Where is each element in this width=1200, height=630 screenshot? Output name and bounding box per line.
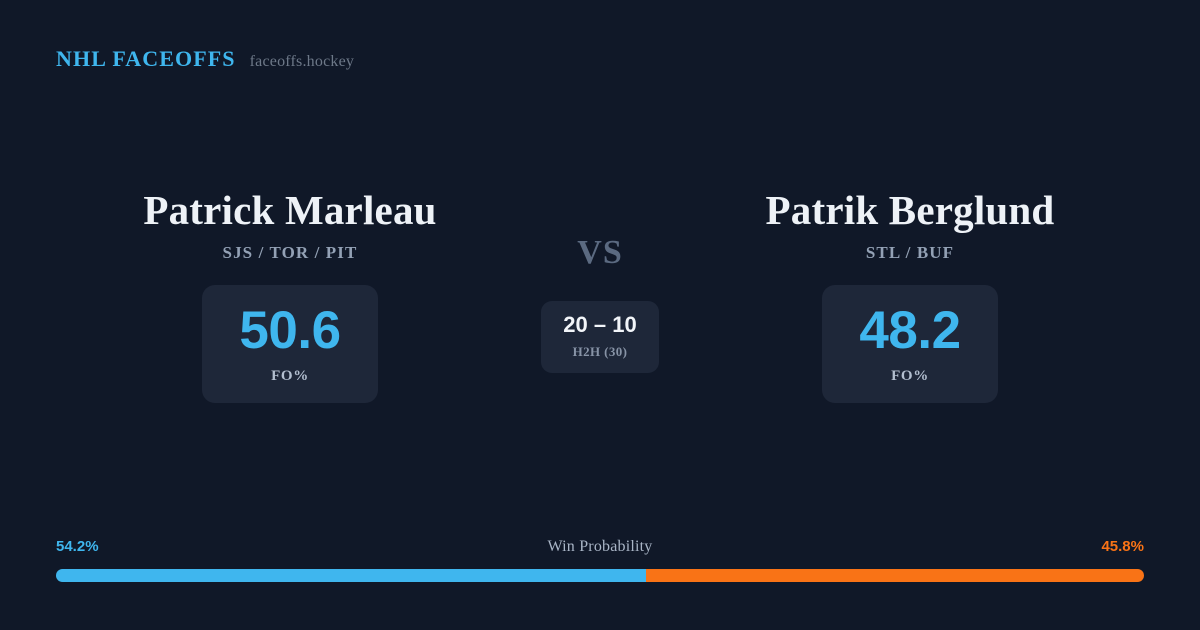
player-stat-value: 48.2	[859, 304, 960, 357]
player-panel-left: Patrick Marleau SJS / TOR / PIT 50.6 FO%	[55, 186, 525, 403]
win-probability-labels: 54.2% Win Probability 45.8%	[56, 538, 1144, 560]
matchup-section: Patrick Marleau SJS / TOR / PIT 50.6 FO%…	[0, 186, 1200, 403]
brand-title: NHL FACEOFFS	[56, 46, 236, 72]
head-to-head-card: 20 – 10 H2H (30)	[541, 301, 659, 373]
win-probability-right-value: 45.8%	[1101, 538, 1144, 555]
matchup-card: NHL FACEOFFS faceoffs.hockey Patrick Mar…	[0, 0, 1200, 630]
player-teams: STL / BUF	[866, 243, 954, 263]
player-stat-card: 50.6 FO%	[202, 285, 378, 403]
player-stat-value: 50.6	[239, 304, 340, 357]
win-probability-section: 54.2% Win Probability 45.8%	[56, 538, 1144, 582]
brand-domain: faceoffs.hockey	[250, 53, 354, 71]
win-probability-bar	[56, 569, 1144, 582]
player-stat-label: FO%	[891, 368, 929, 385]
head-to-head-record: 20 – 10	[563, 314, 636, 336]
win-probability-bar-right	[646, 569, 1144, 582]
vs-label: VS	[577, 236, 622, 270]
head-to-head-label: H2H (30)	[573, 344, 628, 360]
versus-panel: VS 20 – 10 H2H (30)	[525, 186, 675, 373]
player-name: Patrick Marleau	[143, 186, 436, 234]
brand-bar: NHL FACEOFFS faceoffs.hockey	[56, 46, 354, 72]
player-stat-label: FO%	[271, 368, 309, 385]
player-teams: SJS / TOR / PIT	[223, 243, 358, 263]
win-probability-bar-left	[56, 569, 646, 582]
player-stat-card: 48.2 FO%	[822, 285, 998, 403]
win-probability-title: Win Probability	[56, 538, 1144, 556]
player-name: Patrik Berglund	[766, 186, 1055, 234]
player-panel-right: Patrik Berglund STL / BUF 48.2 FO%	[675, 186, 1145, 403]
